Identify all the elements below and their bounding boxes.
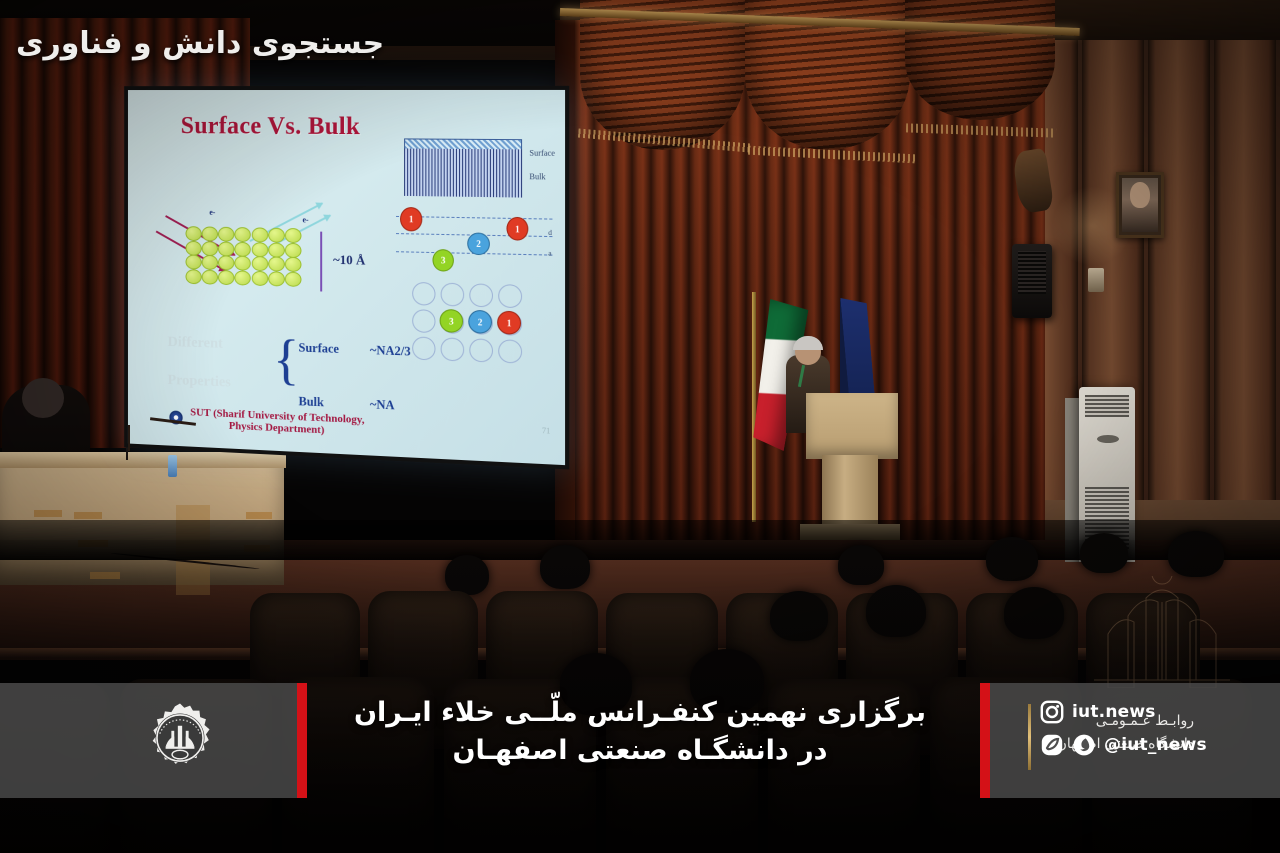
banner-headline: برگزاری نهمین کنفـرانس ملّــی خلاء ایـرا…	[310, 694, 970, 771]
slide-footer: SUT (Sharif University of Technology, Ph…	[190, 406, 364, 439]
audience-head	[986, 537, 1038, 581]
screen-support	[128, 425, 130, 451]
audience-head	[866, 585, 926, 637]
audience-head	[770, 591, 828, 641]
telegram-handle[interactable]: @iut_news	[1104, 735, 1207, 755]
social-divider	[1028, 704, 1031, 770]
bale-icon[interactable]	[1072, 733, 1096, 757]
framed-portrait	[1116, 172, 1164, 238]
atom-lattice	[186, 227, 302, 287]
building-line-art-watermark	[1092, 576, 1232, 688]
audience-head	[1004, 587, 1064, 639]
screenshot-root: Surface Vs. Bulk e- e- ~10	[0, 0, 1280, 853]
bulk-row-value: ~NA	[370, 397, 395, 413]
event-wordmark: جستجوی دانش و فناوری	[16, 26, 384, 61]
isfahan-university-of-technology-logo	[144, 702, 216, 774]
curtain-swag	[905, 0, 1055, 120]
surface-label: Surface	[529, 148, 555, 157]
panel-table-top	[0, 452, 286, 468]
headline-line-1: برگزاری نهمین کنفـرانس ملّــی خلاء ایـرا…	[310, 694, 970, 732]
eitaa-icon[interactable]	[1040, 733, 1064, 757]
instagram-icon[interactable]	[1040, 700, 1064, 724]
different-properties-ghost: Different Properties	[167, 334, 230, 391]
depth-label: ~10 Å	[333, 252, 365, 269]
projection-screen: Surface Vs. Bulk e- e- ~10	[124, 86, 569, 470]
atom-blue: 2	[468, 310, 492, 334]
social-links: iut.news @iut_news	[1040, 700, 1207, 757]
flag-pole	[752, 292, 756, 522]
curtain-swag	[580, 0, 745, 150]
wall-sconce	[1088, 268, 1104, 292]
audience-head	[445, 555, 489, 595]
atom-blue: 2	[467, 232, 490, 255]
instagram-handle[interactable]: iut.news	[1072, 702, 1156, 722]
social-row-messengers[interactable]: @iut_news	[1040, 733, 1207, 757]
atom-green: 3	[432, 249, 453, 272]
presentation-slide: Surface Vs. Bulk e- e- ~10	[128, 90, 565, 465]
d-label: d	[548, 229, 552, 237]
audience-head	[1080, 533, 1128, 573]
seated-person-head	[22, 378, 64, 418]
atom-green: 3	[440, 309, 464, 333]
atom-red: 1	[497, 311, 521, 335]
water-bottle	[168, 455, 177, 477]
atom-red: 1	[506, 217, 528, 241]
audience-head	[540, 545, 590, 589]
surface-row-label: Surface	[299, 341, 339, 357]
electron-label: e-	[302, 215, 308, 224]
a-label: a	[548, 249, 551, 257]
social-row-instagram[interactable]: iut.news	[1040, 700, 1207, 724]
atom-red: 1	[400, 207, 422, 232]
banner-accent-bar-right	[980, 683, 990, 798]
electron-label: e-	[209, 208, 215, 217]
audience-head	[838, 545, 884, 585]
depth-scale-bar	[320, 232, 322, 292]
banner-accent-bar-left	[297, 683, 307, 798]
bulk-row-label: Bulk	[299, 394, 324, 410]
bulk-label: Bulk	[529, 172, 545, 181]
curly-brace: {	[273, 332, 299, 389]
lectern-top	[806, 393, 898, 459]
slide-title: Surface Vs. Bulk	[181, 113, 553, 143]
wall-speaker	[1012, 244, 1052, 318]
honeycomb-lattice: 3 2 1	[412, 282, 523, 365]
surface-row-value: ~NA2/3	[370, 343, 411, 360]
headline-line-2: در دانشگـاه صنعتی اصفهـان	[310, 732, 970, 770]
slide-page-number: 71	[542, 426, 550, 436]
bulk-layer	[404, 148, 522, 197]
audience-head	[1168, 531, 1224, 577]
